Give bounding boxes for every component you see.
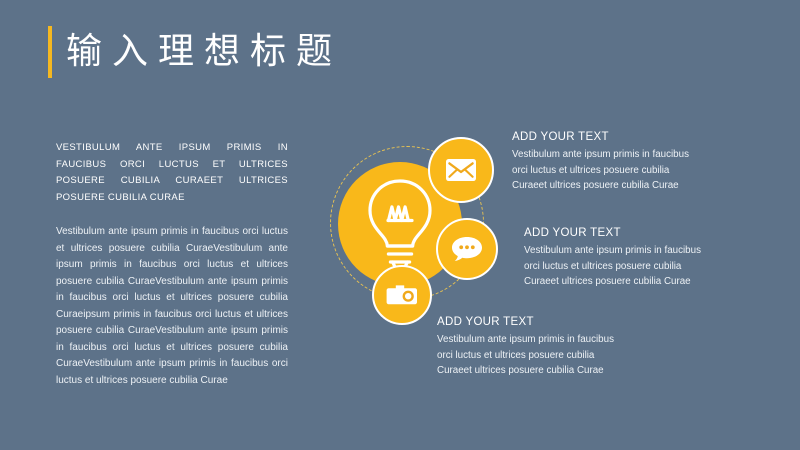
chat-circle[interactable] xyxy=(436,218,498,280)
text-block-2-heading: ADD YOUR TEXT xyxy=(524,226,704,241)
title-text: 输入理想标题 xyxy=(66,34,342,70)
title-accent-bar xyxy=(48,26,52,78)
center-graphic xyxy=(320,128,520,338)
mail-icon xyxy=(446,159,476,181)
text-block-3-body: Vestibulum ante ipsum primis in faucibus… xyxy=(437,332,617,379)
left-text-column: VESTIBULUM ANTE IPSUM PRIMIS IN FAUCIBUS… xyxy=(56,140,288,389)
text-block-1-body: Vestibulum ante ipsum primis in faucibus… xyxy=(512,147,692,194)
text-block-1: ADD YOUR TEXT Vestibulum ante ipsum prim… xyxy=(512,130,692,194)
lightbulb-icon xyxy=(361,176,439,272)
text-block-3-heading: ADD YOUR TEXT xyxy=(437,315,617,330)
text-block-2-body: Vestibulum ante ipsum primis in faucibus… xyxy=(524,243,704,290)
text-block-1-heading: ADD YOUR TEXT xyxy=(512,130,692,145)
mail-circle[interactable] xyxy=(428,137,494,203)
chat-bubble-icon xyxy=(451,236,483,262)
left-body-paragraph: Vestibulum ante ipsum primis in faucibus… xyxy=(56,224,288,389)
page-title: 输入理想标题 xyxy=(48,26,342,78)
slide-canvas: 输入理想标题 VESTIBULUM ANTE IPSUM PRIMIS IN F… xyxy=(0,0,800,450)
text-block-3: ADD YOUR TEXT Vestibulum ante ipsum prim… xyxy=(437,315,617,379)
left-caps-paragraph: VESTIBULUM ANTE IPSUM PRIMIS IN FAUCIBUS… xyxy=(56,140,288,206)
camera-circle[interactable] xyxy=(372,265,432,325)
camera-icon xyxy=(386,283,418,307)
text-block-2: ADD YOUR TEXT Vestibulum ante ipsum prim… xyxy=(524,226,704,290)
